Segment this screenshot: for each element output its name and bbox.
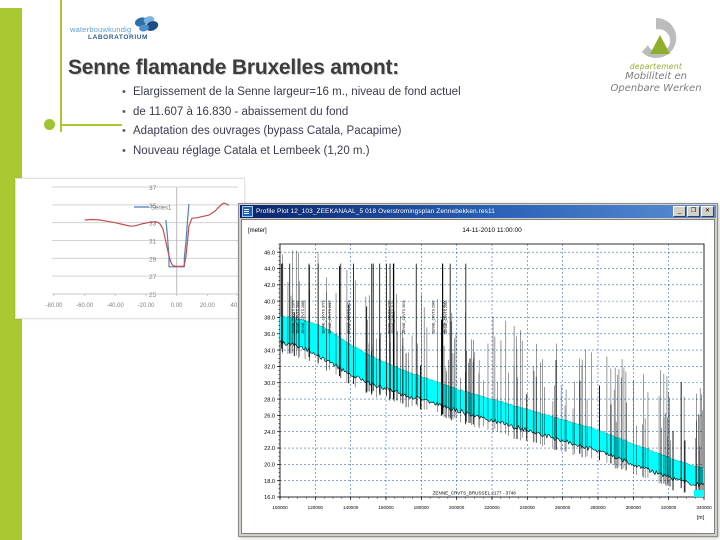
svg-text:32.0: 32.0 <box>264 365 275 371</box>
svg-text:24.0: 24.0 <box>264 430 275 436</box>
svg-text:36.0: 36.0 <box>264 332 275 338</box>
longitudinal-profile-svg: [meter]14-11-2010 11:00:0046.044.042.040… <box>242 220 714 533</box>
svg-text:ZENNE_CRVTS 2379: ZENNE_CRVTS 2379 <box>292 300 296 333</box>
departement-caption: departement Mobiliteit en Openbare Werke… <box>600 62 712 95</box>
minimize-button[interactable]: _ <box>673 206 686 217</box>
svg-text:25: 25 <box>149 292 157 299</box>
svg-text:0.00: 0.00 <box>171 303 183 309</box>
bullet-marker: • <box>122 144 133 158</box>
accent-horizontal-line <box>60 124 122 126</box>
svg-text:Series1: Series1 <box>151 206 172 212</box>
cross-section-chart: 25272931333537-80.00-60.00-40.00-20.000.… <box>15 178 245 319</box>
page-title: Senne flamande Bruxelles amont: <box>68 56 399 80</box>
mike-profile-plot-window[interactable]: Profile Plot 12_103_ZEEKANAAL_5 018 Over… <box>238 203 718 537</box>
mike-profile-icon <box>242 206 253 217</box>
svg-text:ZENNE_CRVTS 2943: ZENNE_CRVTS 2943 <box>431 300 435 333</box>
bullet-list: • Elargissement de la Senne largeur=16 m… <box>122 85 592 163</box>
accent-dot <box>44 119 55 130</box>
bullet-marker: • <box>122 124 133 138</box>
departement-line1: Mobiliteit en <box>600 71 712 83</box>
svg-text:-40.00: -40.00 <box>107 303 125 309</box>
svg-text:44.0: 44.0 <box>264 267 275 273</box>
departement-logo: departement Mobiliteit en Openbare Werke… <box>600 14 712 100</box>
svg-text:ZENNE_CRVTS 2123: ZENNE_CRVTS 2123 <box>391 300 395 333</box>
svg-text:20.0: 20.0 <box>264 463 275 469</box>
window-title: Profile Plot 12_103_ZEEKANAAL_5 018 Over… <box>256 208 673 215</box>
accent-vertical-line <box>60 0 62 132</box>
window-controls[interactable]: _ ❐ ✕ <box>673 206 716 217</box>
slide-canvas: waterbouwkundig LABORATORIUM departement… <box>0 0 720 540</box>
svg-text:28.0: 28.0 <box>264 397 275 403</box>
svg-text:22.0: 22.0 <box>264 446 275 452</box>
list-item: • Elargissement de la Senne largeur=16 m… <box>122 85 592 99</box>
svg-text:46.0: 46.0 <box>264 250 275 256</box>
flemish-government-mark-icon <box>624 14 688 62</box>
svg-text:40.0: 40.0 <box>264 299 275 305</box>
svg-text:14-11-2010 11:00:00: 14-11-2010 11:00:00 <box>462 227 522 234</box>
waterbouwkundig-laboratorium-logo: waterbouwkundig LABORATORIUM <box>70 16 162 48</box>
svg-text:-80.00: -80.00 <box>45 303 63 309</box>
svg-text:160000: 160000 <box>378 505 394 510</box>
svg-text:34.0: 34.0 <box>264 348 275 354</box>
window-titlebar[interactable]: Profile Plot 12_103_ZEEKANAAL_5 018 Over… <box>240 205 716 218</box>
svg-text:37: 37 <box>149 185 157 192</box>
svg-text:ZENNE_CRVTS 2229: ZENNE_CRVTS 2229 <box>328 300 332 333</box>
svg-text:340000: 340000 <box>696 505 712 510</box>
svg-text:31: 31 <box>149 239 157 246</box>
svg-text:180000: 180000 <box>414 505 430 510</box>
svg-text:220000: 220000 <box>484 505 500 510</box>
svg-text:ZENNE_CRVTS 2953: ZENNE_CRVTS 2953 <box>444 300 448 333</box>
svg-text:20.00: 20.00 <box>200 303 216 309</box>
svg-text:16.0: 16.0 <box>264 495 275 501</box>
svg-text:[meter]: [meter] <box>248 228 267 234</box>
svg-text:100000: 100000 <box>272 505 288 510</box>
bullet-marker: • <box>122 85 133 99</box>
svg-text:29: 29 <box>149 256 157 263</box>
svg-text:300000: 300000 <box>626 505 642 510</box>
cross-section-svg: 25272931333537-80.00-60.00-40.00-20.000.… <box>16 179 244 318</box>
svg-text:120000: 120000 <box>308 505 324 510</box>
svg-text:ZENNE_CRVTS 2624: ZENNE_CRVTS 2624 <box>347 300 351 333</box>
svg-text:42.0: 42.0 <box>264 283 275 289</box>
svg-text:ZENNE_CRVTS 3609: ZENNE_CRVTS 3609 <box>402 300 406 333</box>
svg-text:-20.00: -20.00 <box>137 303 155 309</box>
list-item-label: Nouveau réglage Catala et Lembeek (1,20 … <box>133 144 370 158</box>
accent-bar-cap <box>0 0 22 8</box>
svg-text:ZENNE_CRVTS 3779: ZENNE_CRVTS 3779 <box>322 300 326 333</box>
svg-text:ZENNE_CRVTS 3641: ZENNE_CRVTS 3641 <box>296 300 300 333</box>
svg-text:[m]: [m] <box>697 515 705 521</box>
svg-text:18.0: 18.0 <box>264 479 275 485</box>
svg-text:240000: 240000 <box>520 505 536 510</box>
svg-text:27: 27 <box>149 274 157 281</box>
list-item: • de 11.607 à 16.830 - abaissement du fo… <box>122 105 592 119</box>
list-item-label: Adaptation des ouvrages (bypass Catala, … <box>133 124 402 138</box>
close-button[interactable]: ✕ <box>701 206 714 217</box>
list-item-label: Elargissement de la Senne largeur=16 m.,… <box>133 85 461 99</box>
bullet-marker: • <box>122 105 133 119</box>
list-item: • Nouveau réglage Catala et Lembeek (1,2… <box>122 144 592 158</box>
departement-line2: Openbare Werken <box>600 83 712 95</box>
svg-text:ZENNE_CRVTS 2866: ZENNE_CRVTS 2866 <box>301 300 305 333</box>
departement-pre: departement <box>600 62 712 71</box>
svg-text:320000: 320000 <box>661 505 677 510</box>
logo-left-line2: LABORATORIUM <box>88 34 148 41</box>
cross-section-plot-area: 25272931333537-80.00-60.00-40.00-20.000.… <box>16 179 244 318</box>
svg-text:140000: 140000 <box>343 505 359 510</box>
svg-text:26.0: 26.0 <box>264 414 275 420</box>
svg-text:38.0: 38.0 <box>264 316 275 322</box>
list-item: • Adaptation des ouvrages (bypass Catala… <box>122 124 592 138</box>
maximize-button[interactable]: ❐ <box>687 206 700 217</box>
svg-text:-60.00: -60.00 <box>76 303 94 309</box>
svg-text:200000: 200000 <box>449 505 465 510</box>
svg-text:280000: 280000 <box>590 505 606 510</box>
svg-text:30.0: 30.0 <box>264 381 275 387</box>
window-client-area: [meter]14-11-2010 11:00:0046.044.042.040… <box>241 219 715 534</box>
svg-text:260000: 260000 <box>555 505 571 510</box>
svg-text:ZENNE_CRVTS_BRUSSEL 2177 - 374: ZENNE_CRVTS_BRUSSEL 2177 - 3748 <box>433 491 517 496</box>
list-item-label: de 11.607 à 16.830 - abaissement du fond <box>133 105 348 119</box>
logo-left-line1: waterbouwkundig <box>70 25 131 34</box>
